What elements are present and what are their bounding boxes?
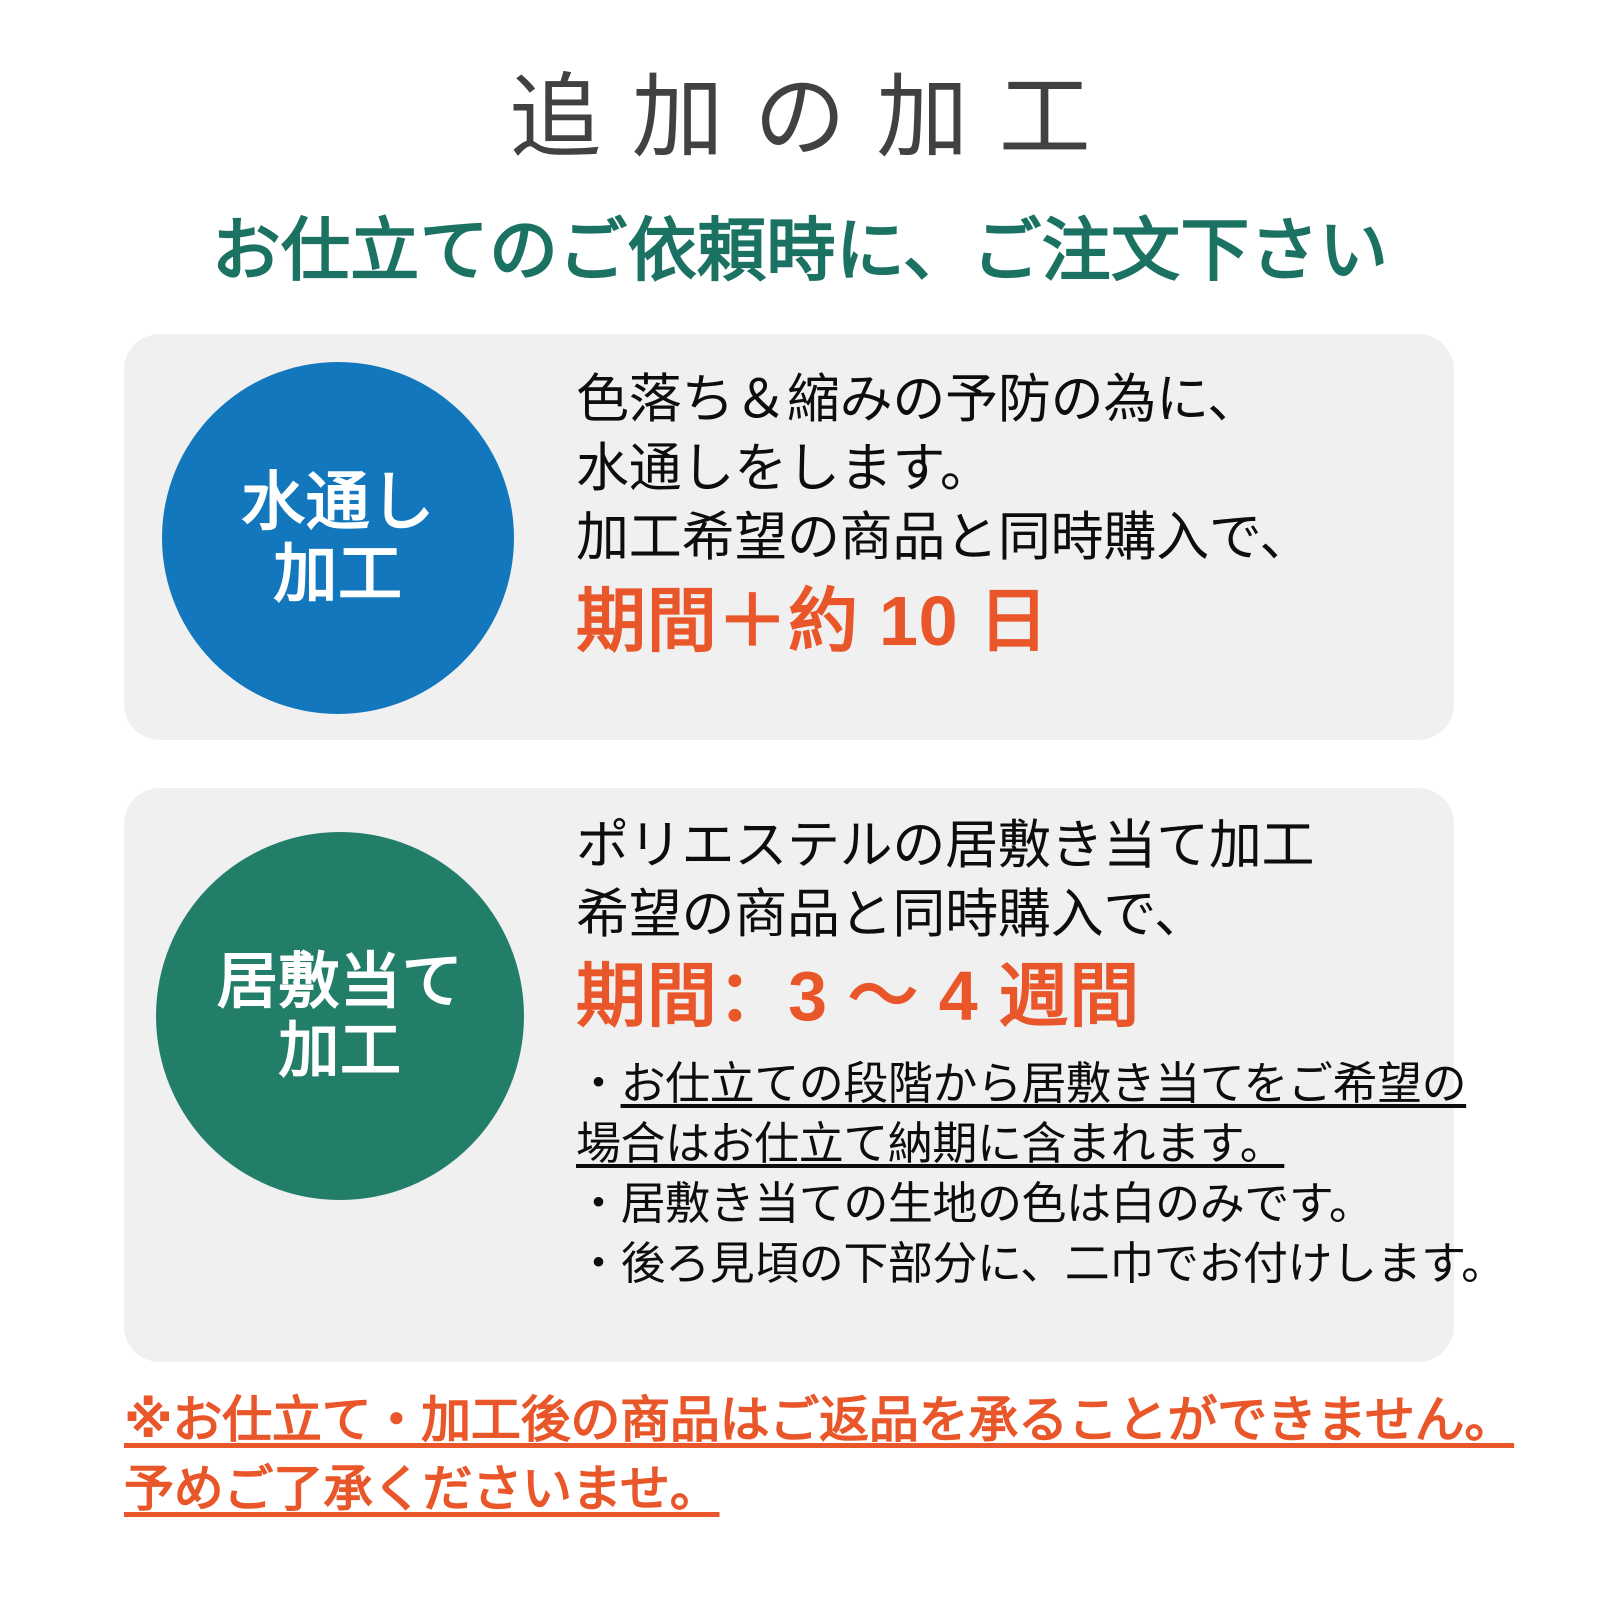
badge-water-treatment: 水通し 加工 bbox=[162, 362, 514, 714]
badge-water-line1: 水通し bbox=[241, 466, 435, 538]
list-item: ・居敷き当ての生地の色は白のみです。 bbox=[576, 1174, 1442, 1234]
card-water-line-3: 加工希望の商品と同時購入で、 bbox=[576, 504, 1434, 573]
card-lining-treatment: 居敷当て 加工 ポリエステルの居敷き当て加工 希望の商品と同時購入で、 期間：3… bbox=[124, 788, 1454, 1362]
note-text-1: お仕立ての段階から居敷き当てをご希望の bbox=[621, 1058, 1467, 1109]
card-lining-duration: 期間：3 〜 4 週間 bbox=[576, 952, 1442, 1040]
badge-lining-treatment: 居敷当て 加工 bbox=[156, 832, 524, 1200]
card-water-treatment: 水通し 加工 色落ち＆縮みの予防の為に、 水通しをします。 加工希望の商品と同時… bbox=[124, 334, 1454, 740]
note-bullet-3: ・ bbox=[576, 1178, 621, 1229]
page-title: 追加の加工 bbox=[0, 72, 1600, 164]
card-lining-body: ポリエステルの居敷き当て加工 希望の商品と同時購入で、 期間：3 〜 4 週間 … bbox=[576, 812, 1442, 1293]
badge-lining-line2: 加工 bbox=[278, 1016, 401, 1085]
list-item: ・お仕立ての段階から居敷き当てをご希望の bbox=[576, 1054, 1442, 1114]
card-lining-line-1: ポリエステルの居敷き当て加工 bbox=[576, 812, 1442, 881]
note-bullet-4: ・ bbox=[576, 1238, 621, 1289]
list-item: ・後ろ見頃の下部分に、二巾でお付けします。 bbox=[576, 1234, 1442, 1294]
list-item: 場合はお仕立て納期に含まれます。 bbox=[576, 1114, 1442, 1174]
card-water-line-2: 水通しをします。 bbox=[576, 435, 1434, 504]
card-water-body: 色落ち＆縮みの予防の為に、 水通しをします。 加工希望の商品と同時購入で、 期間… bbox=[576, 366, 1434, 665]
card-lining-notes: ・お仕立ての段階から居敷き当てをご希望の 場合はお仕立て納期に含まれます。 ・居… bbox=[576, 1054, 1442, 1293]
warning-line-1: ※お仕立て・加工後の商品はご返品を承ることができません。 bbox=[124, 1386, 1514, 1455]
warning-line-2: 予めご了承くださいませ。 bbox=[124, 1455, 720, 1524]
page-subtitle: お仕立てのご依頼時に、ご注文下さい bbox=[0, 216, 1600, 285]
note-text-4: 後ろ見頃の下部分に、二巾でお付けします。 bbox=[621, 1238, 1506, 1289]
infographic-page: 追加の加工 お仕立てのご依頼時に、ご注文下さい 水通し 加工 色落ち＆縮みの予防… bbox=[0, 0, 1600, 1600]
card-water-duration: 期間＋約 10 日 bbox=[576, 577, 1434, 665]
badge-lining-line1: 居敷当て bbox=[217, 947, 463, 1016]
note-text-2: 場合はお仕立て納期に含まれます。 bbox=[576, 1118, 1284, 1169]
note-bullet-1: ・ bbox=[576, 1058, 621, 1109]
card-lining-line-2: 希望の商品と同時購入で、 bbox=[576, 881, 1442, 950]
return-policy-warning: ※お仕立て・加工後の商品はご返品を承ることができません。 予めご了承くださいませ… bbox=[124, 1386, 1524, 1524]
card-water-line-1: 色落ち＆縮みの予防の為に、 bbox=[576, 366, 1434, 435]
note-text-3: 居敷き当ての生地の色は白のみです。 bbox=[621, 1178, 1374, 1229]
badge-water-line2: 加工 bbox=[273, 538, 402, 610]
